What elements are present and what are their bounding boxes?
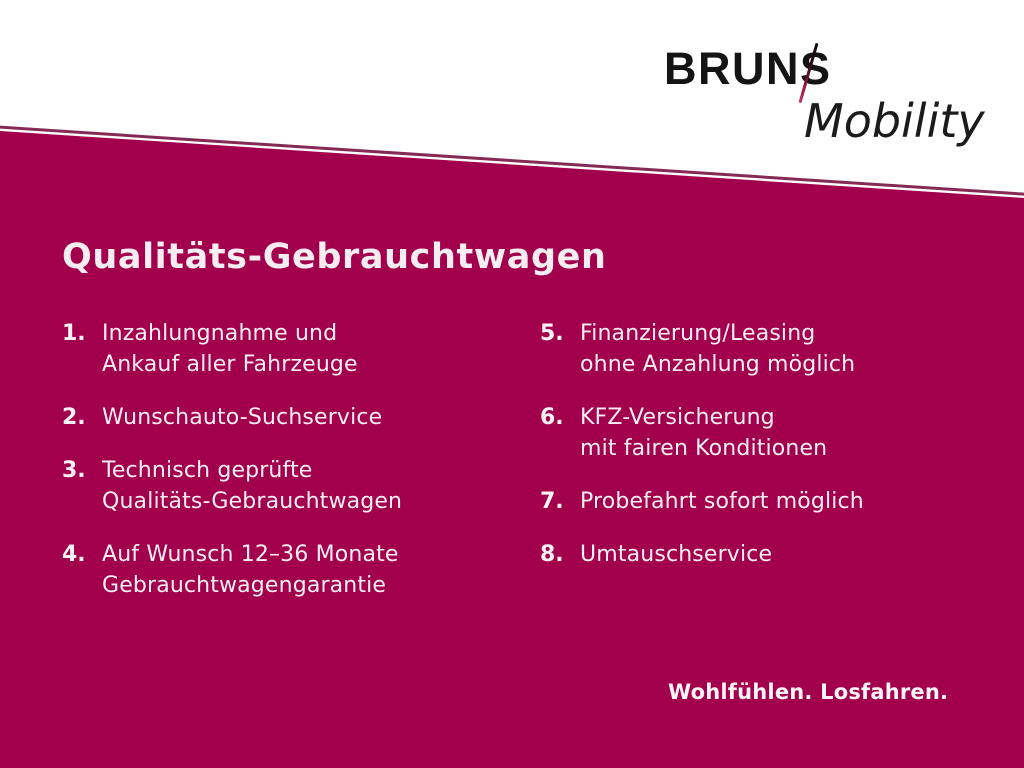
brand-logo: BRUNS Mobility: [664, 46, 974, 156]
service-list: 1. Inzahlungnahme und Ankauf aller Fahrz…: [0, 318, 1024, 648]
list-item-text: KFZ-Versicherung mit fairen Konditionen: [580, 402, 980, 464]
list-item-line: Inzahlungnahme und: [102, 318, 522, 349]
list-item-line: Auf Wunsch 12–36 Monate: [102, 539, 522, 570]
list-item-line: Finanzierung/Leasing: [580, 318, 980, 349]
list-item-text: Probefahrt sofort möglich: [580, 486, 980, 517]
list-item: 7. Probefahrt sofort möglich: [540, 486, 980, 517]
list-item-line: Umtauschservice: [580, 539, 980, 570]
list-item-number: 6.: [540, 402, 580, 433]
list-item-number: 7.: [540, 486, 580, 517]
list-item: 5. Finanzierung/Leasing ohne Anzahlung m…: [540, 318, 980, 380]
list-item: 8. Umtauschservice: [540, 539, 980, 570]
list-item-number: 4.: [62, 539, 102, 570]
list-item-number: 2.: [62, 402, 102, 433]
list-item-line: Probefahrt sofort möglich: [580, 486, 980, 517]
page-title: Qualitäts-Gebrauchtwagen: [62, 237, 607, 277]
list-item-text: Technisch geprüfte Qualitäts-Gebrauchtwa…: [102, 455, 522, 517]
list-item: 6. KFZ-Versicherung mit fairen Kondition…: [540, 402, 980, 464]
list-item: 3. Technisch geprüfte Qualitäts-Gebrauch…: [62, 455, 522, 517]
list-item-number: 5.: [540, 318, 580, 349]
list-item-line: Wunschauto-Suchservice: [102, 402, 522, 433]
list-item-line: Ankauf aller Fahrzeuge: [102, 349, 522, 380]
list-item-text: Auf Wunsch 12–36 Monate Gebrauchtwagenga…: [102, 539, 522, 601]
list-item-line: KFZ-Versicherung: [580, 402, 980, 433]
list-item-number: 3.: [62, 455, 102, 486]
list-item-number: 1.: [62, 318, 102, 349]
list-item-text: Inzahlungnahme und Ankauf aller Fahrzeug…: [102, 318, 522, 380]
list-item: 2. Wunschauto-Suchservice: [62, 402, 522, 433]
list-item: 4. Auf Wunsch 12–36 Monate Gebrauchtwage…: [62, 539, 522, 601]
service-list-column-left: 1. Inzahlungnahme und Ankauf aller Fahrz…: [62, 318, 522, 623]
list-item-line: Technisch geprüfte: [102, 455, 522, 486]
list-item: 1. Inzahlungnahme und Ankauf aller Fahrz…: [62, 318, 522, 380]
service-list-column-right: 5. Finanzierung/Leasing ohne Anzahlung m…: [540, 318, 980, 592]
logo-wordmark-secondary: Mobility: [804, 98, 985, 144]
list-item-text: Wunschauto-Suchservice: [102, 402, 522, 433]
slide-canvas: BRUNS Mobility Qualitäts-Gebrauchtwagen …: [0, 0, 1024, 768]
list-item-line: Qualitäts-Gebrauchtwagen: [102, 486, 522, 517]
list-item-text: Umtauschservice: [580, 539, 980, 570]
list-item-line: mit fairen Konditionen: [580, 433, 980, 464]
brand-tagline: Wohlfühlen. Losfahren.: [668, 680, 948, 704]
list-item-line: ohne Anzahlung möglich: [580, 349, 980, 380]
list-item-text: Finanzierung/Leasing ohne Anzahlung mögl…: [580, 318, 980, 380]
list-item-line: Gebrauchtwagengarantie: [102, 570, 522, 601]
list-item-number: 8.: [540, 539, 580, 570]
